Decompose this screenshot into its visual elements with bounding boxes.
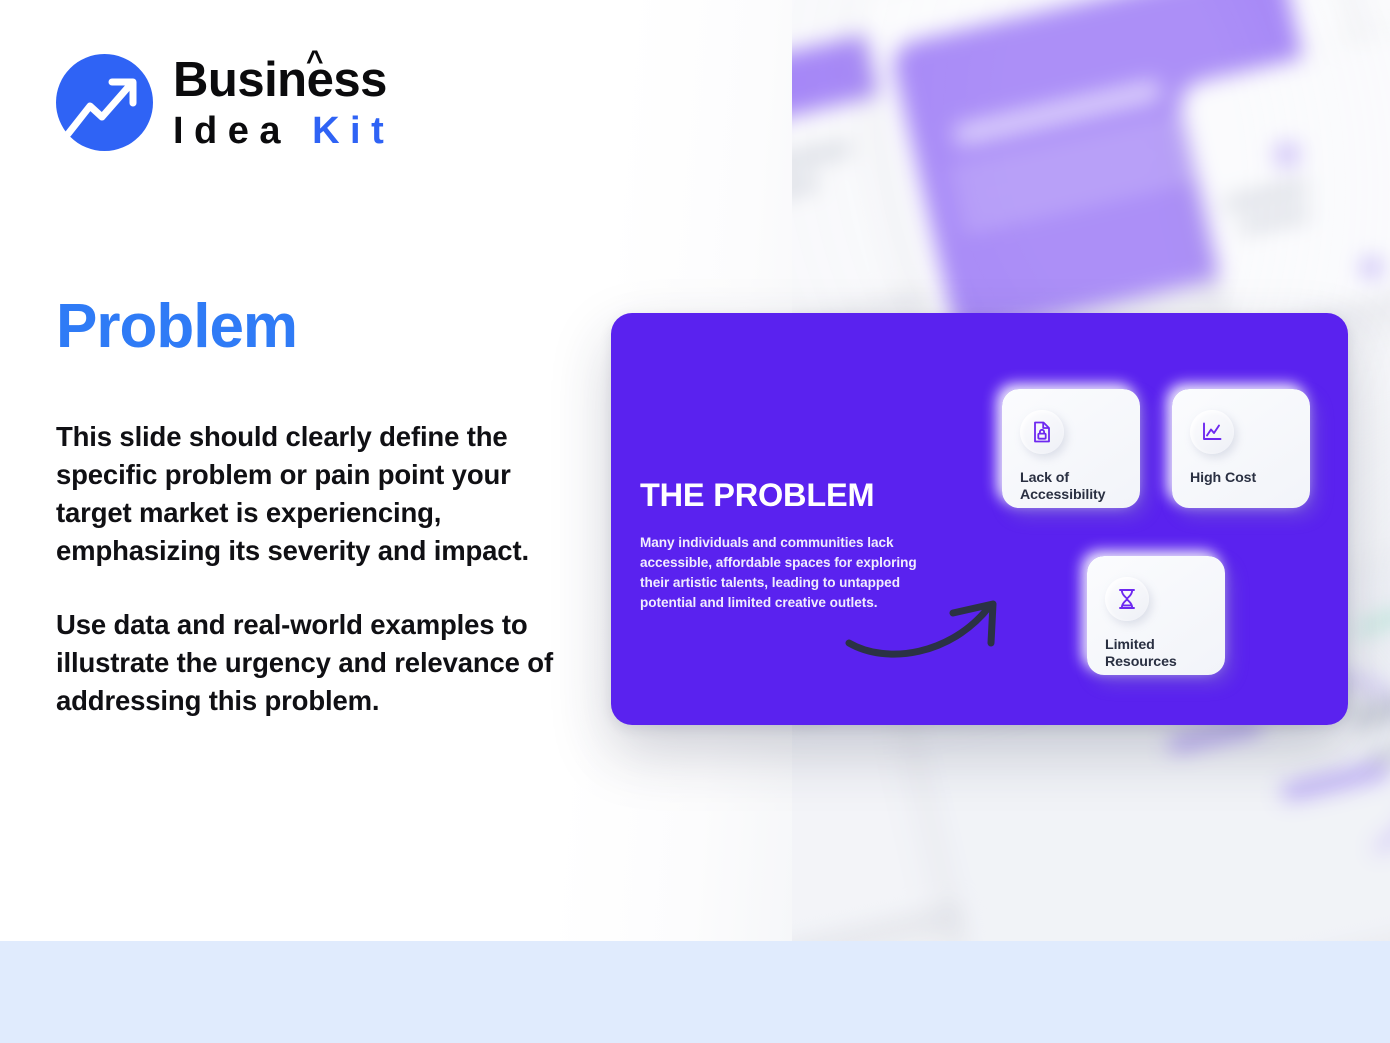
- brand-name-line2: Idea Kit: [173, 112, 394, 150]
- feature-tile-label: Lack of Accessibility: [1020, 470, 1122, 505]
- brand-circumflex-accent: ^: [306, 47, 323, 77]
- brand-name-line2-dark: Idea: [173, 110, 312, 152]
- paragraph-1: This slide should clearly define the spe…: [56, 418, 576, 570]
- slide-preview-card[interactable]: THE PROBLEM Many individuals and communi…: [611, 313, 1348, 725]
- body-copy: This slide should clearly define the spe…: [56, 418, 576, 720]
- feature-tile-limited-resources[interactable]: Limited Resources: [1087, 556, 1225, 675]
- slide-heading: THE PROBLEM: [640, 479, 940, 512]
- feature-tile-label: High Cost: [1190, 470, 1292, 487]
- line-chart-icon: [1190, 410, 1234, 454]
- paragraph-2: Use data and real-world examples to illu…: [56, 606, 576, 720]
- feature-tile-label: Limited Resources: [1105, 637, 1207, 672]
- curved-arrow-up-right-icon: [843, 591, 1013, 668]
- brand-name-line1: Business ^: [173, 56, 394, 105]
- hourglass-icon: [1105, 577, 1149, 621]
- brand-name-line1-text: Business: [173, 53, 387, 107]
- page-title: Problem: [56, 296, 297, 358]
- brand-wordmark: Business ^ Idea Kit: [173, 56, 394, 150]
- slide-page: Business ^ Idea Kit Problem This slide s…: [0, 0, 1390, 1043]
- feature-tile-lack-of-accessibility[interactable]: Lack of Accessibility: [1002, 389, 1140, 508]
- brand-logo: Business ^ Idea Kit: [56, 54, 394, 151]
- bottom-accent-bar: [0, 941, 1390, 1043]
- document-lock-icon: [1020, 410, 1064, 454]
- brand-name-line2-accent: Kit: [312, 110, 394, 152]
- feature-tile-high-cost[interactable]: High Cost: [1172, 389, 1310, 508]
- growth-arrow-circle-icon: [56, 54, 153, 151]
